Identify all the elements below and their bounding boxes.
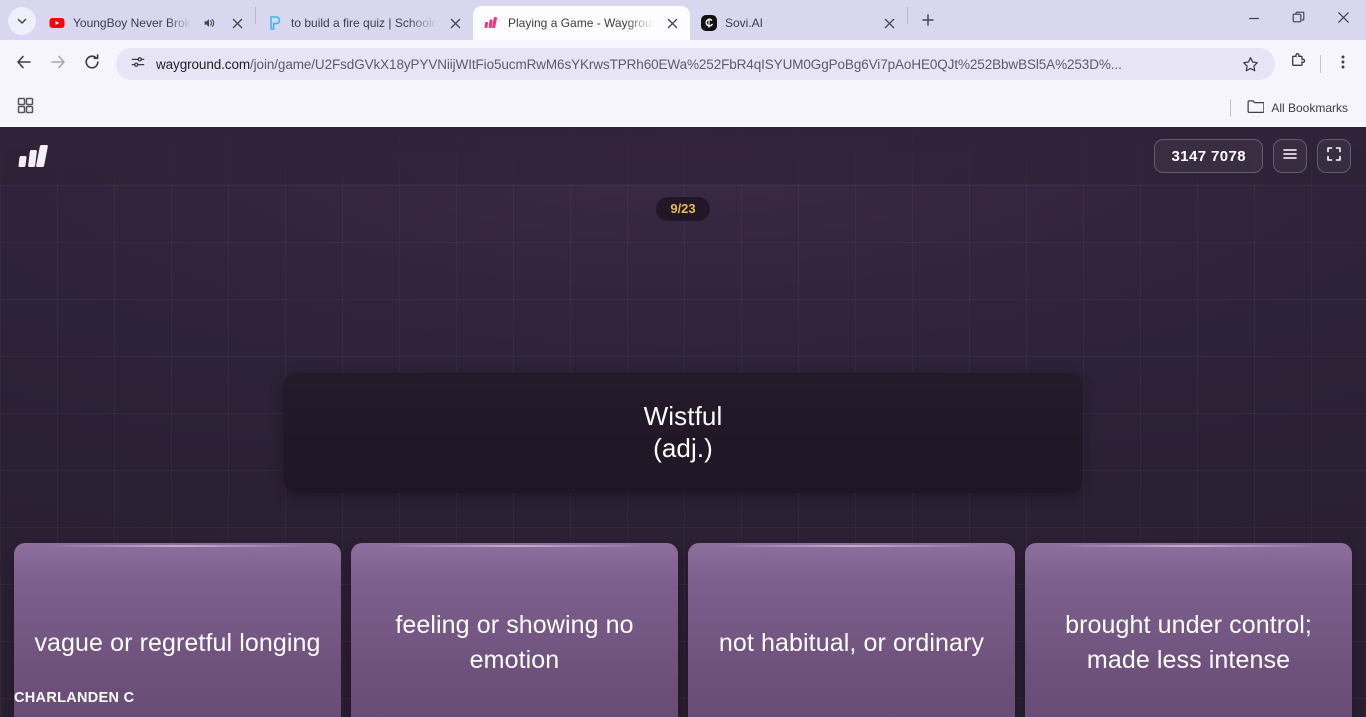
logo-bar-1 [18,156,26,167]
bookmarks-right-group: All Bookmarks [1230,96,1356,120]
header-controls: 3147 7078 [1154,139,1351,173]
game-code-badge[interactable]: 3147 7078 [1154,139,1263,173]
question-term: Wistful [644,401,723,433]
tab-close-button[interactable] [445,13,465,33]
reload-icon [83,53,101,76]
browser-tab-active[interactable]: Playing a Game - Wayground (F [473,6,690,40]
maximize-icon [1292,11,1305,29]
logo-bar-3 [36,145,48,167]
back-button[interactable] [8,48,40,80]
minimize-icon [1248,11,1260,29]
tab-strip: YoungBoy Never Broke Aga to build a fire… [0,0,1366,40]
question-counter-wrap: 9/23 [0,197,1366,221]
answer-text: brought under control; made less intense [1039,608,1338,678]
browser-chrome: YoungBoy Never Broke Aga to build a fire… [0,0,1366,128]
all-bookmarks-label: All Bookmarks [1271,101,1348,115]
browser-tab[interactable]: to build a fire quiz | Schoology [256,6,473,40]
tab-title: YoungBoy Never Broke Aga [73,16,191,30]
three-dots-icon [1335,54,1351,75]
sovi-icon [701,15,717,31]
arrow-left-icon [15,53,33,76]
maximize-button[interactable] [1276,1,1321,39]
close-button[interactable] [1321,1,1366,39]
answer-option[interactable]: brought under control; made less intense [1025,543,1352,717]
url-domain: wayground.com [156,57,250,72]
bookmarks-bar: All Bookmarks [0,88,1366,128]
minimize-button[interactable] [1231,1,1276,39]
grid-apps-icon [17,97,34,119]
tab-title: Playing a Game - Wayground (F [508,16,654,30]
arrow-right-icon [49,53,67,76]
all-bookmarks-button[interactable]: All Bookmarks [1239,96,1356,120]
browser-tab[interactable]: Sovi.AI [690,6,907,40]
question-counter-badge: 9/23 [656,197,709,221]
forward-button[interactable] [42,48,74,80]
bookmarks-divider [1230,99,1231,117]
plus-icon [921,13,935,32]
browser-toolbar: wayground.com/join/game/U2FsdGVkX18yPYVN… [0,40,1366,88]
tab-close-button[interactable] [662,13,682,33]
chrome-menu-button[interactable] [1328,49,1358,79]
youtube-icon [49,15,65,31]
tab-close-button[interactable] [879,13,899,33]
quiz-page: 3147 7078 9/23 Wistful (adj.) vague or r… [0,128,1366,717]
tab-audio-icon[interactable] [199,13,219,33]
close-icon [1337,11,1350,29]
new-tab-button[interactable] [914,8,942,36]
reload-button[interactable] [76,48,108,80]
puzzle-icon [1289,53,1307,76]
fullscreen-button[interactable] [1317,139,1351,173]
schoology-icon [267,15,283,31]
wayground-icon [484,15,500,31]
extensions-button[interactable] [1283,49,1313,79]
answer-text: feeling or showing no emotion [365,608,664,678]
hamburger-menu-icon [1281,145,1299,168]
answer-options: vague or regretful longing feeling or sh… [0,543,1366,717]
question-card: Wistful (adj.) [284,373,1082,493]
tab-divider [907,7,908,24]
url-text: wayground.com/join/game/U2FsdGVkX18yPYVN… [156,57,1225,72]
answer-text: vague or regretful longing [34,626,320,661]
apps-shortcut-button[interactable] [10,94,40,122]
url-path: /join/game/U2FsdGVkX18yPYVNiijWItFio5ucm… [250,57,1122,72]
quiz-header: 3147 7078 [0,128,1366,184]
bookmark-star-icon[interactable] [1235,49,1265,79]
player-name: CHARLANDEN C [14,688,194,709]
tab-title: Sovi.AI [725,16,871,30]
window-controls [1231,0,1366,40]
tab-title: to build a fire quiz | Schoology [291,16,437,30]
tab-close-button[interactable] [227,13,247,33]
browser-tab[interactable]: YoungBoy Never Broke Aga [38,6,255,40]
answer-text: not habitual, or ordinary [719,626,984,661]
answer-option[interactable]: feeling or showing no emotion [351,543,678,717]
address-bar[interactable]: wayground.com/join/game/U2FsdGVkX18yPYVN… [116,48,1275,80]
fullscreen-icon [1325,145,1343,168]
folder-icon [1247,99,1264,117]
site-settings-icon[interactable] [130,54,146,75]
tab-search-button[interactable] [8,7,36,35]
question-part-of-speech: (adj.) [653,433,713,465]
menu-button[interactable] [1273,139,1307,173]
answer-option[interactable]: not habitual, or ordinary [688,543,1015,717]
wayground-logo[interactable] [16,145,46,167]
toolbar-divider [1320,55,1321,73]
chevron-down-icon [16,15,28,27]
